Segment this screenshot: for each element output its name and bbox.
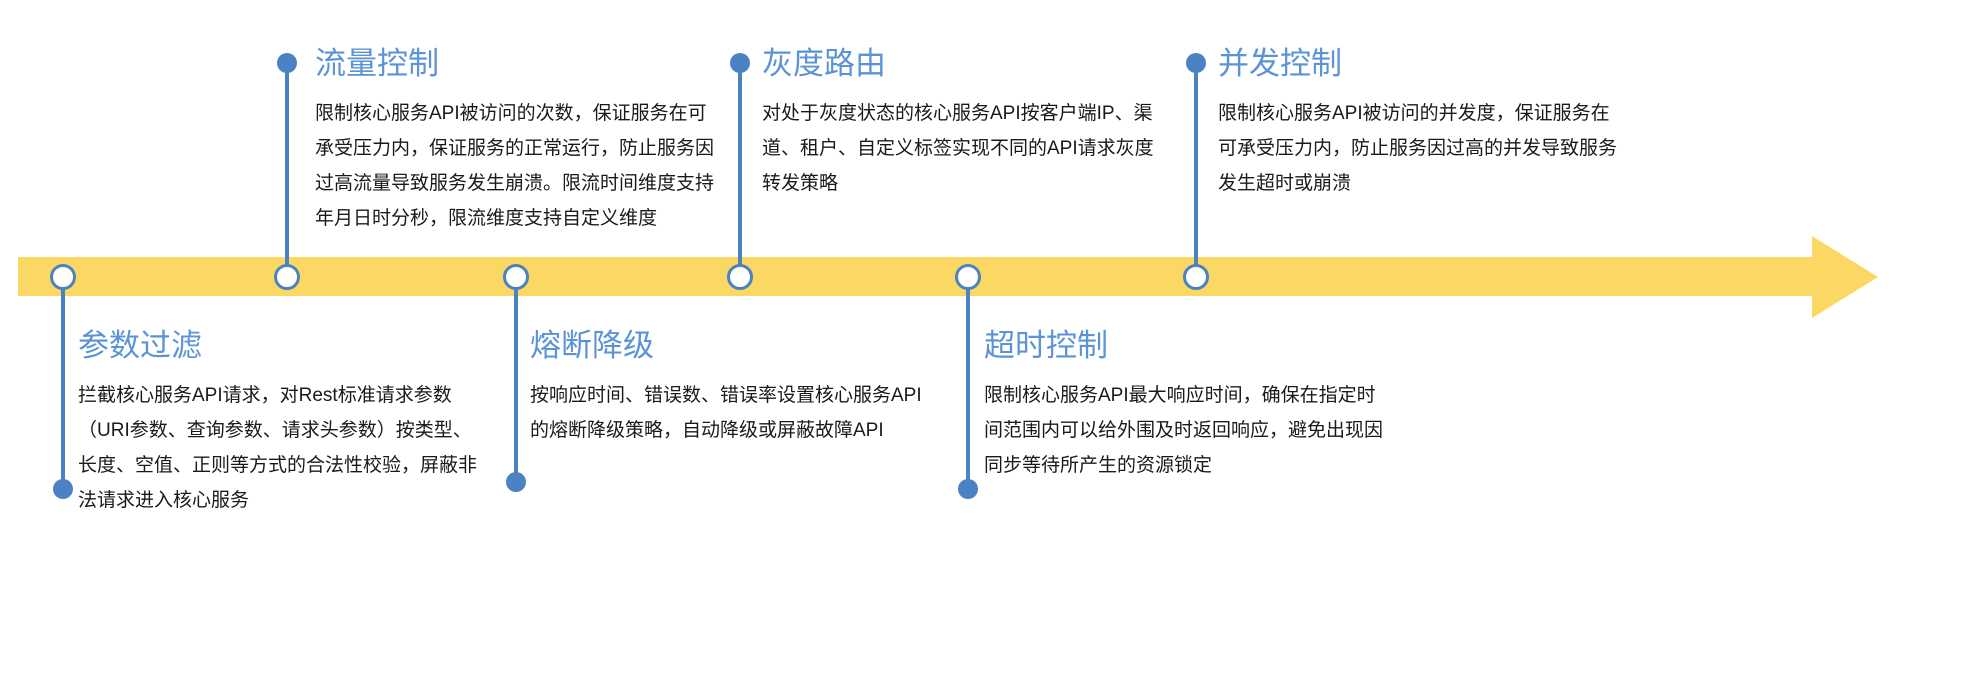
timeline-node-flow-control[interactable]	[274, 264, 300, 290]
timeline-item-concurrency-control: 并发控制 限制核心服务API被访问的并发度，保证服务在可承受压力内，防止服务因过…	[1218, 46, 1618, 201]
timeline-node-param-filter[interactable]	[50, 264, 76, 290]
connector-stem-timeout-control	[966, 277, 970, 489]
item-description: 对处于灰度状态的核心服务API按客户端IP、渠道、租户、自定义标签实现不同的AP…	[762, 96, 1162, 201]
timeline-item-param-filter: 参数过滤 拦截核心服务API请求，对Rest标准请求参数（URI参数、查询参数、…	[78, 328, 488, 518]
item-description: 拦截核心服务API请求，对Rest标准请求参数（URI参数、查询参数、请求头参数…	[78, 378, 488, 518]
timeline-node-concurrency-control[interactable]	[1183, 264, 1209, 290]
timeline-item-gray-routing: 灰度路由 对处于灰度状态的核心服务API按客户端IP、渠道、租户、自定义标签实现…	[762, 46, 1162, 201]
item-description: 限制核心服务API被访问的次数，保证服务在可承受压力内，保证服务的正常运行，防止…	[315, 96, 715, 236]
item-title: 流量控制	[315, 46, 715, 82]
timeline-node-gray-routing[interactable]	[727, 264, 753, 290]
item-title: 熔断降级	[530, 328, 930, 364]
end-dot-circuit-breaker	[506, 472, 526, 492]
connector-stem-flow-control	[285, 63, 289, 277]
timeline-item-flow-control: 流量控制 限制核心服务API被访问的次数，保证服务在可承受压力内，保证服务的正常…	[315, 46, 715, 236]
item-description: 按响应时间、错误数、错误率设置核心服务API的熔断降级策略，自动降级或屏蔽故障A…	[530, 378, 930, 448]
item-description: 限制核心服务API最大响应时间，确保在指定时间范围内可以给外围及时返回响应，避免…	[984, 378, 1384, 483]
item-title: 灰度路由	[762, 46, 1162, 82]
timeline-diagram: 流量控制 限制核心服务API被访问的次数，保证服务在可承受压力内，保证服务的正常…	[0, 0, 1968, 697]
item-title: 参数过滤	[78, 328, 488, 364]
end-dot-param-filter	[53, 479, 73, 499]
timeline-node-circuit-breaker[interactable]	[503, 264, 529, 290]
timeline-node-timeout-control[interactable]	[955, 264, 981, 290]
end-dot-concurrency-control	[1186, 53, 1206, 73]
timeline-item-timeout-control: 超时控制 限制核心服务API最大响应时间，确保在指定时间范围内可以给外围及时返回…	[984, 328, 1384, 483]
end-dot-flow-control	[277, 53, 297, 73]
connector-stem-concurrency-control	[1194, 63, 1198, 277]
timeline-item-circuit-breaker: 熔断降级 按响应时间、错误数、错误率设置核心服务API的熔断降级策略，自动降级或…	[530, 328, 930, 448]
item-description: 限制核心服务API被访问的并发度，保证服务在可承受压力内，防止服务因过高的并发导…	[1218, 96, 1618, 201]
item-title: 并发控制	[1218, 46, 1618, 82]
connector-stem-gray-routing	[738, 63, 742, 277]
end-dot-timeout-control	[958, 479, 978, 499]
connector-stem-circuit-breaker	[514, 277, 518, 482]
item-title: 超时控制	[984, 328, 1384, 364]
connector-stem-param-filter	[61, 277, 65, 489]
end-dot-gray-routing	[730, 53, 750, 73]
